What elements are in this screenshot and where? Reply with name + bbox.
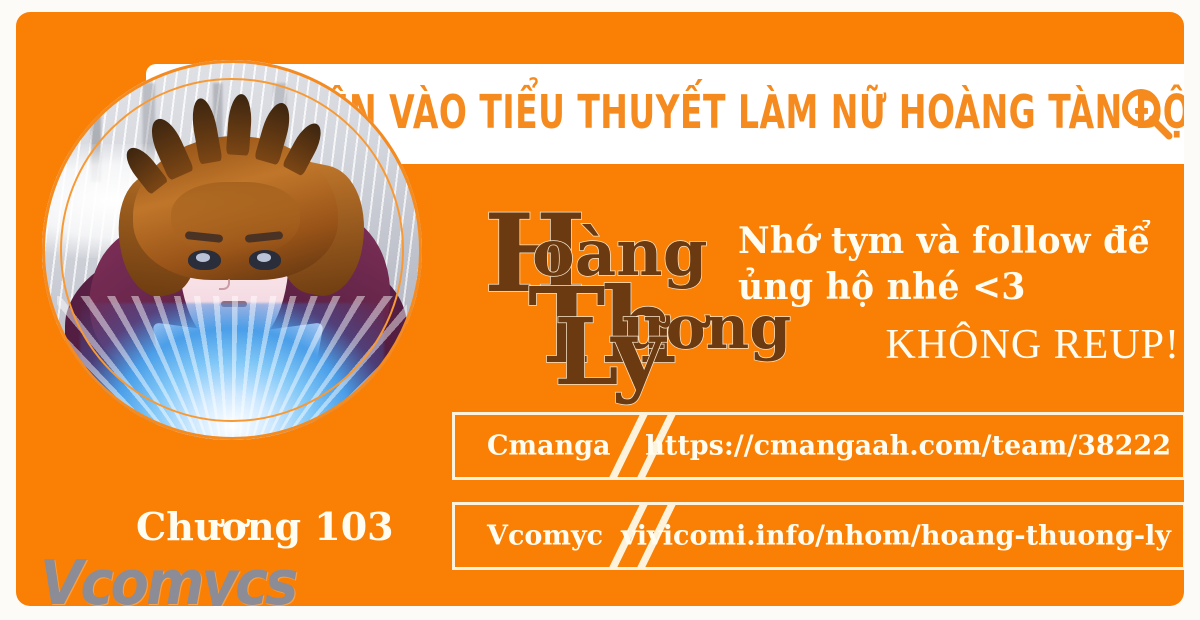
promo-line-2: ủng hộ nhé <3 <box>738 264 1170 310</box>
link-label: Cmanga <box>487 431 611 462</box>
link-box-cmanga[interactable]: Cmanga https://cmangaah.com/team/38222 <box>452 412 1184 480</box>
link-box-vcomyc[interactable]: Vcomyc vivicomi.info/nhom/hoang-thuong-l… <box>452 502 1184 570</box>
link-url[interactable]: https://cmangaah.com/team/38222 <box>645 431 1171 462</box>
character-eye-right <box>249 250 281 270</box>
brand-logo: H oàng Th ương Ly <box>476 194 726 384</box>
orange-panel: ÊN VÀO TIỂU THUYẾT LÀM NỮ HOÀNG TÀN ĐỘC <box>16 12 1184 606</box>
promo-line-1: Nhớ tym và follow để <box>738 218 1170 264</box>
character-bangs <box>171 182 300 258</box>
chapter-label: Chương 103 <box>136 504 394 549</box>
link-label: Vcomyc <box>487 521 603 552</box>
vcomycs-watermark: Vcomycs <box>40 548 295 606</box>
avatar-artwork <box>42 60 422 440</box>
brand-word-ly: Ly <box>554 306 661 398</box>
page-root: ÊN VÀO TIỂU THUYẾT LÀM NỮ HOÀNG TÀN ĐỘC <box>0 0 1200 620</box>
search-icon[interactable] <box>1118 85 1176 143</box>
magic-glow-rays <box>57 296 407 440</box>
promo-text: Nhớ tym và follow để ủng hộ nhé <3 KHÔNG… <box>738 218 1184 371</box>
page-title: ÊN VÀO TIỂU THUYẾT LÀM NỮ HOÀNG TÀN ĐỘC <box>326 86 1184 140</box>
link-url[interactable]: vivicomi.info/nhom/hoang-thuong-ly <box>621 521 1171 552</box>
avatar <box>42 60 422 440</box>
character-eye-left <box>188 250 220 270</box>
promo-line-3: KHÔNG REUP! <box>738 320 1184 370</box>
